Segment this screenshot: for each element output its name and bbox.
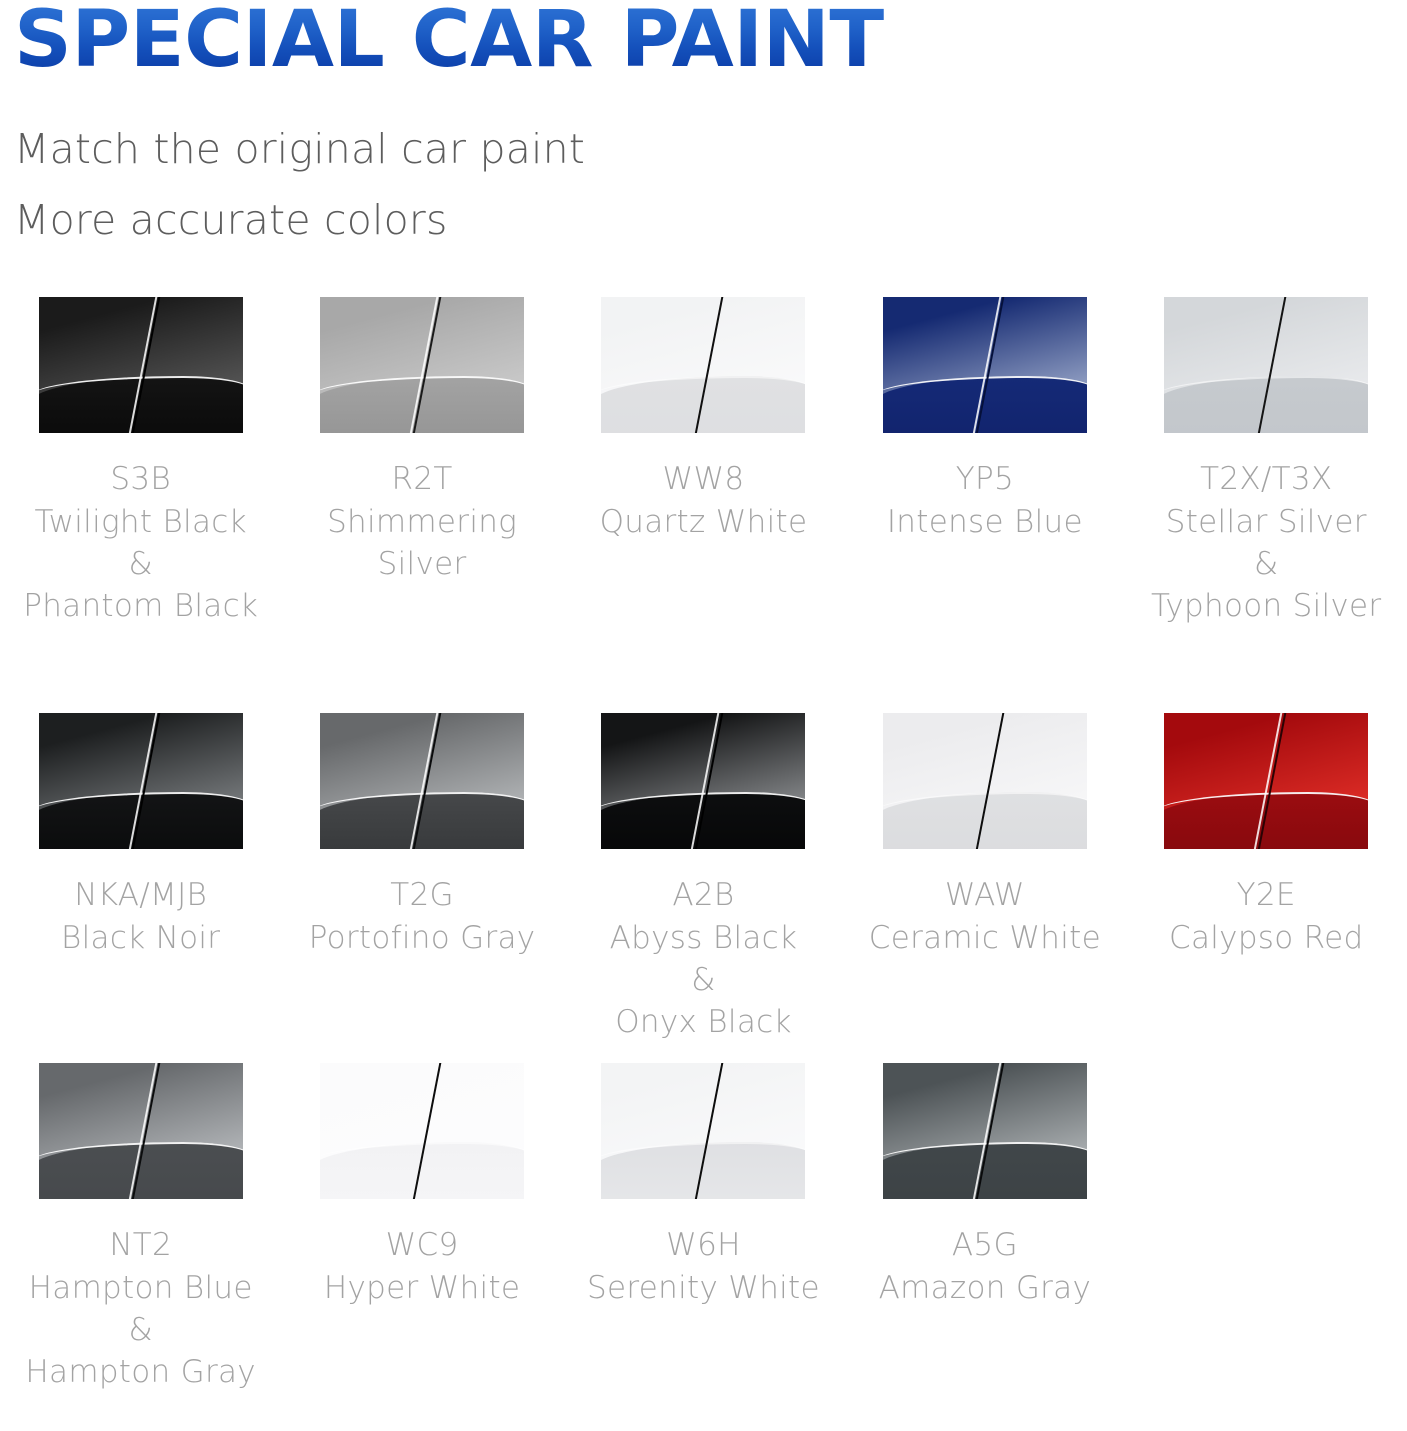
paint-swatch-grid: S3BTwilight Black & Phantom BlackR2TShim… <box>0 297 1407 1399</box>
paint-swatch-cell[interactable]: WW8Quartz White <box>563 297 844 542</box>
paint-swatch-caption: W6HSerenity White <box>563 1224 844 1308</box>
paint-name: Portofino Gray <box>282 917 563 959</box>
paint-swatch-cell[interactable]: NKA/MJBBlack Noir <box>0 713 281 958</box>
paint-name: Stellar Silver & Typhoon Silver <box>1126 501 1407 627</box>
paint-swatch-row: NT2Hampton Blue & Hampton GrayWC9Hyper W… <box>0 1063 1407 1399</box>
paint-code: T2X/T3X <box>1126 458 1407 500</box>
paint-name: Hampton Blue & Hampton Gray <box>0 1267 281 1393</box>
paint-name: Amazon Gray <box>844 1267 1125 1309</box>
paint-name: Abyss Black & Onyx Black <box>563 917 844 1043</box>
car-panel-swatch[interactable] <box>39 713 243 849</box>
paint-code: T2G <box>282 874 563 916</box>
paint-swatch-cell[interactable]: WAWCeramic White <box>844 713 1125 958</box>
paint-code: WC9 <box>282 1224 563 1266</box>
paint-code: YP5 <box>844 458 1125 500</box>
paint-swatch-caption: NT2Hampton Blue & Hampton Gray <box>0 1224 281 1393</box>
page-title: SPECIAL CAR PAINT <box>14 0 1407 78</box>
paint-code: NKA/MJB <box>0 874 281 916</box>
paint-swatch-cell[interactable]: T2GPortofino Gray <box>281 713 562 958</box>
paint-swatch-cell[interactable]: A2BAbyss Black & Onyx Black <box>563 713 844 1043</box>
paint-swatch-caption: A2BAbyss Black & Onyx Black <box>563 874 844 1043</box>
paint-code: S3B <box>0 458 281 500</box>
paint-swatch-cell[interactable]: T2X/T3XStellar Silver & Typhoon Silver <box>1126 297 1407 627</box>
subtitle-line-2: More accurate colors <box>14 185 1407 256</box>
paint-name: Serenity White <box>563 1267 844 1309</box>
paint-code: WAW <box>844 874 1125 916</box>
paint-name: Black Noir <box>0 917 281 959</box>
paint-swatch-caption: WW8Quartz White <box>563 458 844 542</box>
paint-swatch-cell[interactable]: W6HSerenity White <box>563 1063 844 1308</box>
car-panel-swatch[interactable] <box>601 297 805 433</box>
paint-swatch-caption: YP5Intense Blue <box>844 458 1125 542</box>
page-header: SPECIAL CAR PAINT Match the original car… <box>0 0 1407 255</box>
paint-swatch-cell[interactable]: R2TShimmering Silver <box>281 297 562 584</box>
paint-swatch-row: NKA/MJBBlack NoirT2GPortofino GrayA2BAby… <box>0 713 1407 1063</box>
paint-name: Ceramic White <box>844 917 1125 959</box>
paint-code: Y2E <box>1126 874 1407 916</box>
paint-swatch-caption: S3BTwilight Black & Phantom Black <box>0 458 281 627</box>
car-panel-swatch[interactable] <box>320 1063 524 1199</box>
paint-swatch-cell[interactable]: S3BTwilight Black & Phantom Black <box>0 297 281 627</box>
paint-swatch-cell[interactable]: NT2Hampton Blue & Hampton Gray <box>0 1063 281 1393</box>
car-panel-swatch[interactable] <box>1164 713 1368 849</box>
car-panel-swatch[interactable] <box>39 297 243 433</box>
paint-code: A2B <box>563 874 844 916</box>
paint-swatch-row: S3BTwilight Black & Phantom BlackR2TShim… <box>0 297 1407 713</box>
paint-name: Shimmering Silver <box>282 501 563 585</box>
paint-code: R2T <box>282 458 563 500</box>
paint-swatch-caption: NKA/MJBBlack Noir <box>0 874 281 958</box>
paint-swatch-caption: T2X/T3XStellar Silver & Typhoon Silver <box>1126 458 1407 627</box>
paint-swatch-caption: R2TShimmering Silver <box>282 458 563 584</box>
paint-name: Twilight Black & Phantom Black <box>0 501 281 627</box>
car-panel-swatch[interactable] <box>320 713 524 849</box>
subtitle-block: Match the original car paint More accura… <box>14 114 1407 255</box>
paint-name: Quartz White <box>563 501 844 543</box>
car-panel-swatch[interactable] <box>320 297 524 433</box>
car-panel-swatch[interactable] <box>883 1063 1087 1199</box>
paint-name: Hyper White <box>282 1267 563 1309</box>
car-panel-swatch[interactable] <box>1164 297 1368 433</box>
paint-name: Calypso Red <box>1126 917 1407 959</box>
car-panel-swatch[interactable] <box>39 1063 243 1199</box>
paint-swatch-cell[interactable]: WC9Hyper White <box>281 1063 562 1308</box>
paint-name: Intense Blue <box>844 501 1125 543</box>
paint-swatch-cell[interactable]: YP5Intense Blue <box>844 297 1125 542</box>
car-panel-swatch[interactable] <box>601 713 805 849</box>
paint-swatch-cell[interactable]: Y2ECalypso Red <box>1126 713 1407 958</box>
paint-swatch-caption: WAWCeramic White <box>844 874 1125 958</box>
paint-swatch-caption: Y2ECalypso Red <box>1126 874 1407 958</box>
car-panel-swatch[interactable] <box>883 297 1087 433</box>
paint-swatch-caption: A5GAmazon Gray <box>844 1224 1125 1308</box>
subtitle-line-1: Match the original car paint <box>14 114 1407 185</box>
car-panel-swatch[interactable] <box>601 1063 805 1199</box>
paint-swatch-caption: WC9Hyper White <box>282 1224 563 1308</box>
paint-swatch-cell[interactable]: A5GAmazon Gray <box>844 1063 1125 1308</box>
paint-code: NT2 <box>0 1224 281 1266</box>
car-panel-swatch[interactable] <box>883 713 1087 849</box>
paint-code: WW8 <box>563 458 844 500</box>
paint-swatch-caption: T2GPortofino Gray <box>282 874 563 958</box>
paint-code: A5G <box>844 1224 1125 1266</box>
paint-code: W6H <box>563 1224 844 1266</box>
